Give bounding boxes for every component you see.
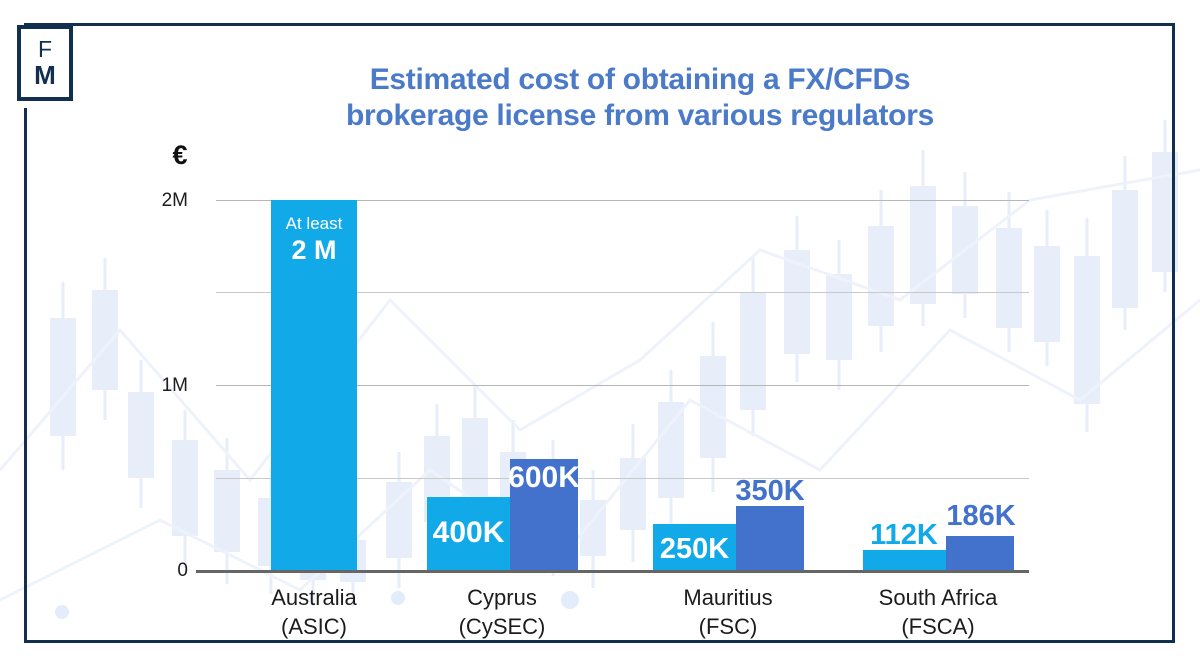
- bar-label-australia-qualifier: At least: [271, 215, 357, 233]
- bar-mauritius-high[interactable]: [736, 506, 804, 571]
- bar-label-cyprus-high: 600K: [498, 461, 590, 495]
- category-label-southafrica-country: South Africa: [879, 585, 998, 610]
- category-label-cyprus-regulator: (CySEC): [432, 612, 572, 641]
- chart-page: F M Estimated cost of obtaining a FX/CFD…: [0, 0, 1200, 666]
- chart-title-line-1: Estimated cost of obtaining a FX/CFDs: [200, 62, 1080, 98]
- bar-label-mauritius-high: 350K: [712, 475, 828, 508]
- bar-label-mauritius-low: 250K: [653, 533, 736, 566]
- category-label-mauritius-regulator: (FSC): [658, 612, 798, 641]
- fm-logo: F M: [17, 25, 73, 101]
- bar-southafrica-low[interactable]: [863, 550, 946, 571]
- chart-title-line-2: brokerage license from various regulator…: [200, 98, 1080, 134]
- category-label-mauritius-country: Mauritius: [683, 585, 772, 610]
- category-label-australia-country: Australia: [271, 585, 357, 610]
- bar-label-australia-low: At least 2 M: [271, 215, 357, 264]
- bar-label-southafrica-high: 186K: [923, 500, 1039, 533]
- category-label-australia: Australia (ASIC): [244, 583, 384, 641]
- logo-letter-m: M: [34, 62, 56, 88]
- category-label-southafrica-regulator: (FSCA): [868, 612, 1008, 641]
- category-label-australia-regulator: (ASIC): [244, 612, 384, 641]
- logo-letter-f: F: [38, 38, 52, 61]
- bar-label-cyprus-low: 400K: [427, 516, 510, 550]
- x-axis-baseline: [196, 570, 1029, 573]
- category-label-cyprus-country: Cyprus: [467, 585, 537, 610]
- chart-title: Estimated cost of obtaining a FX/CFDs br…: [200, 62, 1080, 134]
- bar-label-australia-value: 2 M: [271, 236, 357, 264]
- category-label-cyprus: Cyprus (CySEC): [432, 583, 572, 641]
- category-label-mauritius: Mauritius (FSC): [658, 583, 798, 641]
- category-label-southafrica: South Africa (FSCA): [868, 583, 1008, 641]
